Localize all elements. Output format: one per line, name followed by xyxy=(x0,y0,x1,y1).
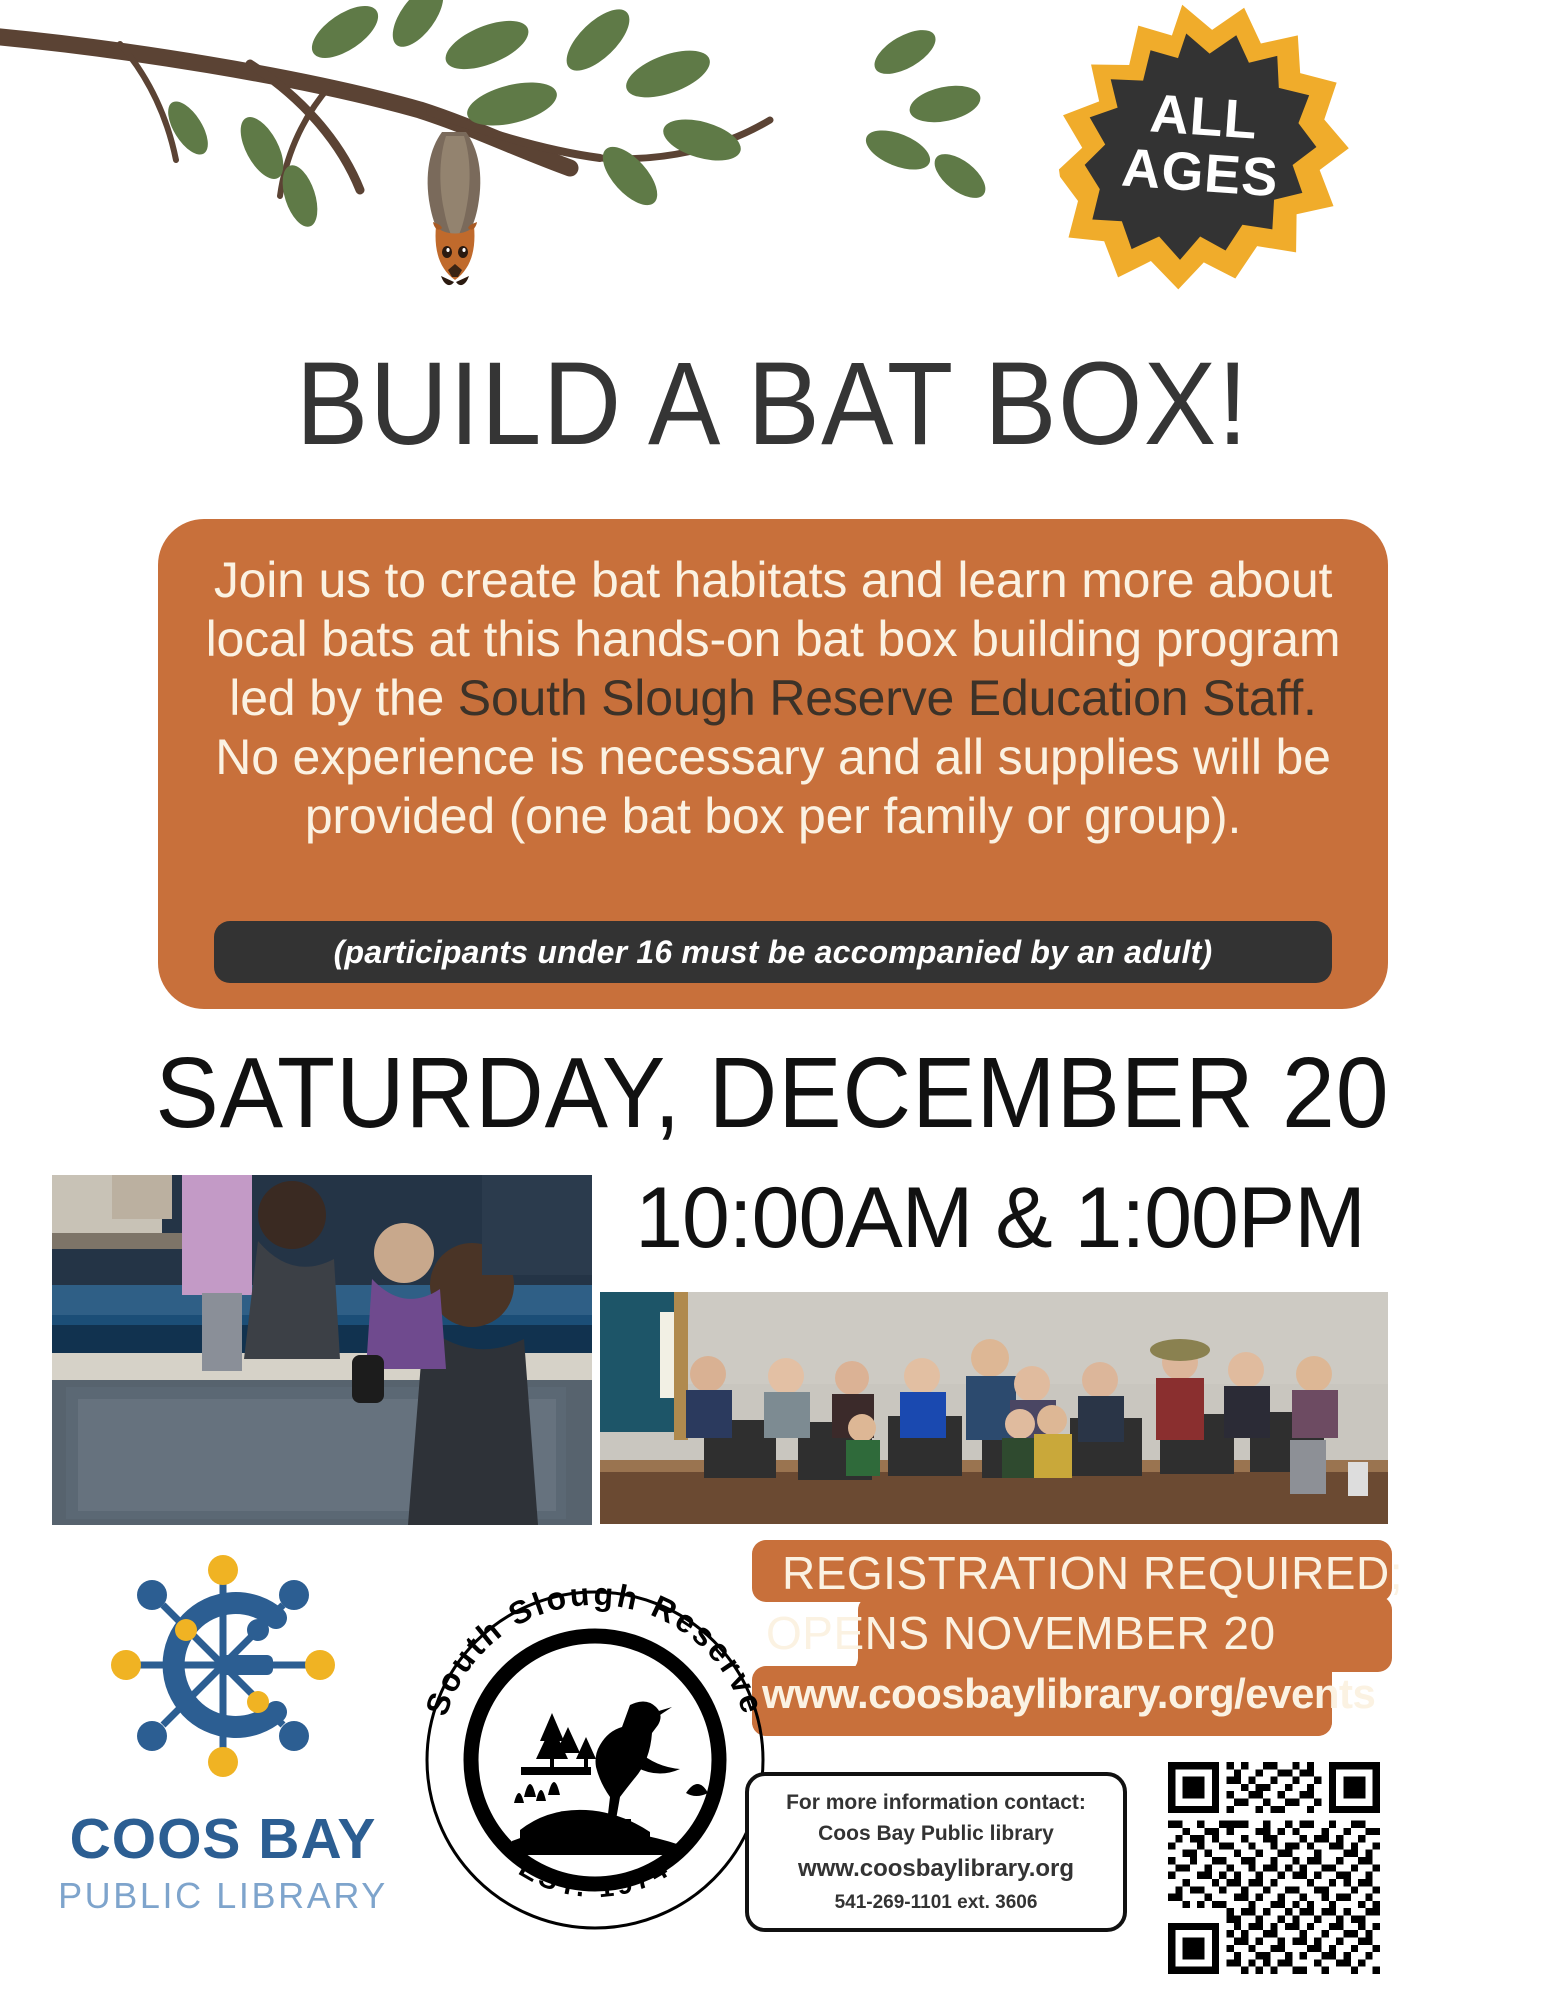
library-name: COOS BAY PUBLIC LIBRARY xyxy=(58,1810,388,1917)
description-text: Join us to create bat habitats and learn… xyxy=(192,551,1354,846)
description-seg-2-highlight: South Slough Reserve Education Staff. xyxy=(458,670,1317,726)
south-slough-reserve-seal: South Slough Reserve EST. 1974 xyxy=(400,1545,790,1965)
event-date: SATURDAY, DECEMBER 20 xyxy=(39,1043,1507,1143)
age-note-banner: (participants under 16 must be accompani… xyxy=(214,921,1332,983)
qr-code-icon[interactable] xyxy=(1168,1762,1380,1974)
badge-line-2: AGES xyxy=(1120,140,1281,206)
contact-phone: 541-269-1101 ext. 3606 xyxy=(835,1892,1038,1914)
library-name-line-1: COOS BAY xyxy=(58,1810,388,1870)
all-ages-badge: ALL AGES xyxy=(1038,0,1366,312)
description-seg-3: No experience is necessary and all suppl… xyxy=(215,729,1330,844)
contact-box: For more information contact: Coos Bay P… xyxy=(745,1772,1127,1932)
library-name-line-2: PUBLIC LIBRARY xyxy=(58,1874,388,1917)
poster-canvas: ALL AGES BUILD A BAT BOX! Join us to cre… xyxy=(0,0,1545,2000)
contact-line-1: For more information contact: xyxy=(786,1791,1086,1815)
registration-line-2: OPENS NOVEMBER 20 xyxy=(766,1606,1276,1660)
age-note-text: (participants under 16 must be accompani… xyxy=(334,934,1213,971)
all-ages-badge-text: ALL AGES xyxy=(1047,0,1357,303)
registration-block: REGISTRATION REQUIRED; OPENS NOVEMBER 20… xyxy=(752,1540,1392,1736)
description-card: Join us to create bat habitats and learn… xyxy=(158,519,1388,1009)
photo-group-with-bat-boxes xyxy=(600,1292,1388,1524)
photo-child-building-bat-box xyxy=(52,1175,592,1525)
contact-line-2: Coos Bay Public library xyxy=(818,1822,1054,1846)
event-time: 10:00AM & 1:00PM xyxy=(610,1175,1390,1261)
page-title: BUILD A BAT BOX! xyxy=(62,345,1483,463)
coos-bay-library-logo: COOS BAY PUBLIC LIBRARY xyxy=(58,1540,388,1960)
registration-url[interactable]: www.coosbaylibrary.org/events xyxy=(762,1670,1375,1718)
bat-icon xyxy=(400,130,510,290)
registration-line-1: REGISTRATION REQUIRED; xyxy=(782,1546,1403,1600)
contact-website[interactable]: www.coosbaylibrary.org xyxy=(798,1855,1074,1883)
